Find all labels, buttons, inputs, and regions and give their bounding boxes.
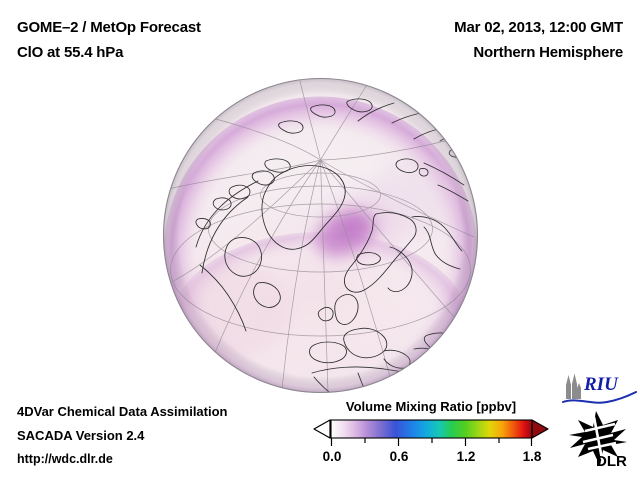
colorbar-scale [312,418,550,448]
footer-version: SACADA Version 2.4 [17,429,144,442]
globe-map [162,77,479,394]
colorbar: Volume Mixing Ratio [ppbv] 0.0 [312,400,550,472]
colorbar-ticks [332,438,532,446]
figure-canvas: GOME–2 / MetOp Forecast ClO at 55.4 hPa … [0,0,640,480]
riu-wordmark: RIU [583,374,619,395]
colorbar-tick-3: 1.8 [523,450,542,464]
colorbar-title: Volume Mixing Ratio [ppbv] [312,400,550,413]
riu-logo: RIU [562,371,638,405]
colorbar-min-arrow [314,420,330,438]
dlr-wordmark: DLR [596,453,627,469]
colorbar-max-arrow [532,420,548,438]
figure-subtitle: ClO at 55.4 hPa [17,45,123,60]
figure-title: GOME–2 / MetOp Forecast [17,20,201,35]
footer-method: 4DVar Chemical Data Assimilation [17,405,228,418]
figure-timestamp: Mar 02, 2013, 12:00 GMT [454,20,623,35]
colorbar-tick-0: 0.0 [323,450,342,464]
footer-url[interactable]: http://wdc.dlr.de [17,453,113,466]
dlr-logo: DLR [566,409,632,469]
colorbar-tick-labels: 0.0 0.6 1.2 1.8 [312,450,550,470]
colorbar-tick-2: 1.2 [457,450,476,464]
colorbar-tick-1: 0.6 [390,450,409,464]
cathedral-icon [566,374,581,400]
figure-region: Northern Hemisphere [473,45,623,60]
